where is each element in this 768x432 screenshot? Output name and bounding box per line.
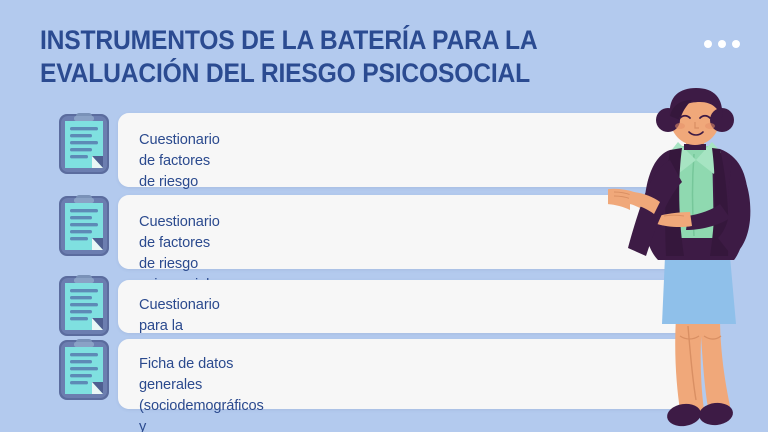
businesswoman-presenting-illustration: [608, 88, 768, 432]
clipboard-icon: [58, 338, 110, 401]
clipboard-icon: [58, 274, 110, 337]
clipboard-icon: [58, 194, 110, 257]
clipboard-icon: [58, 112, 110, 175]
list-item-text-4: Ficha de datos generales (sociodemográfi…: [139, 354, 264, 432]
slide-canvas: Instrumentos de la batería para la evalu…: [0, 0, 768, 432]
